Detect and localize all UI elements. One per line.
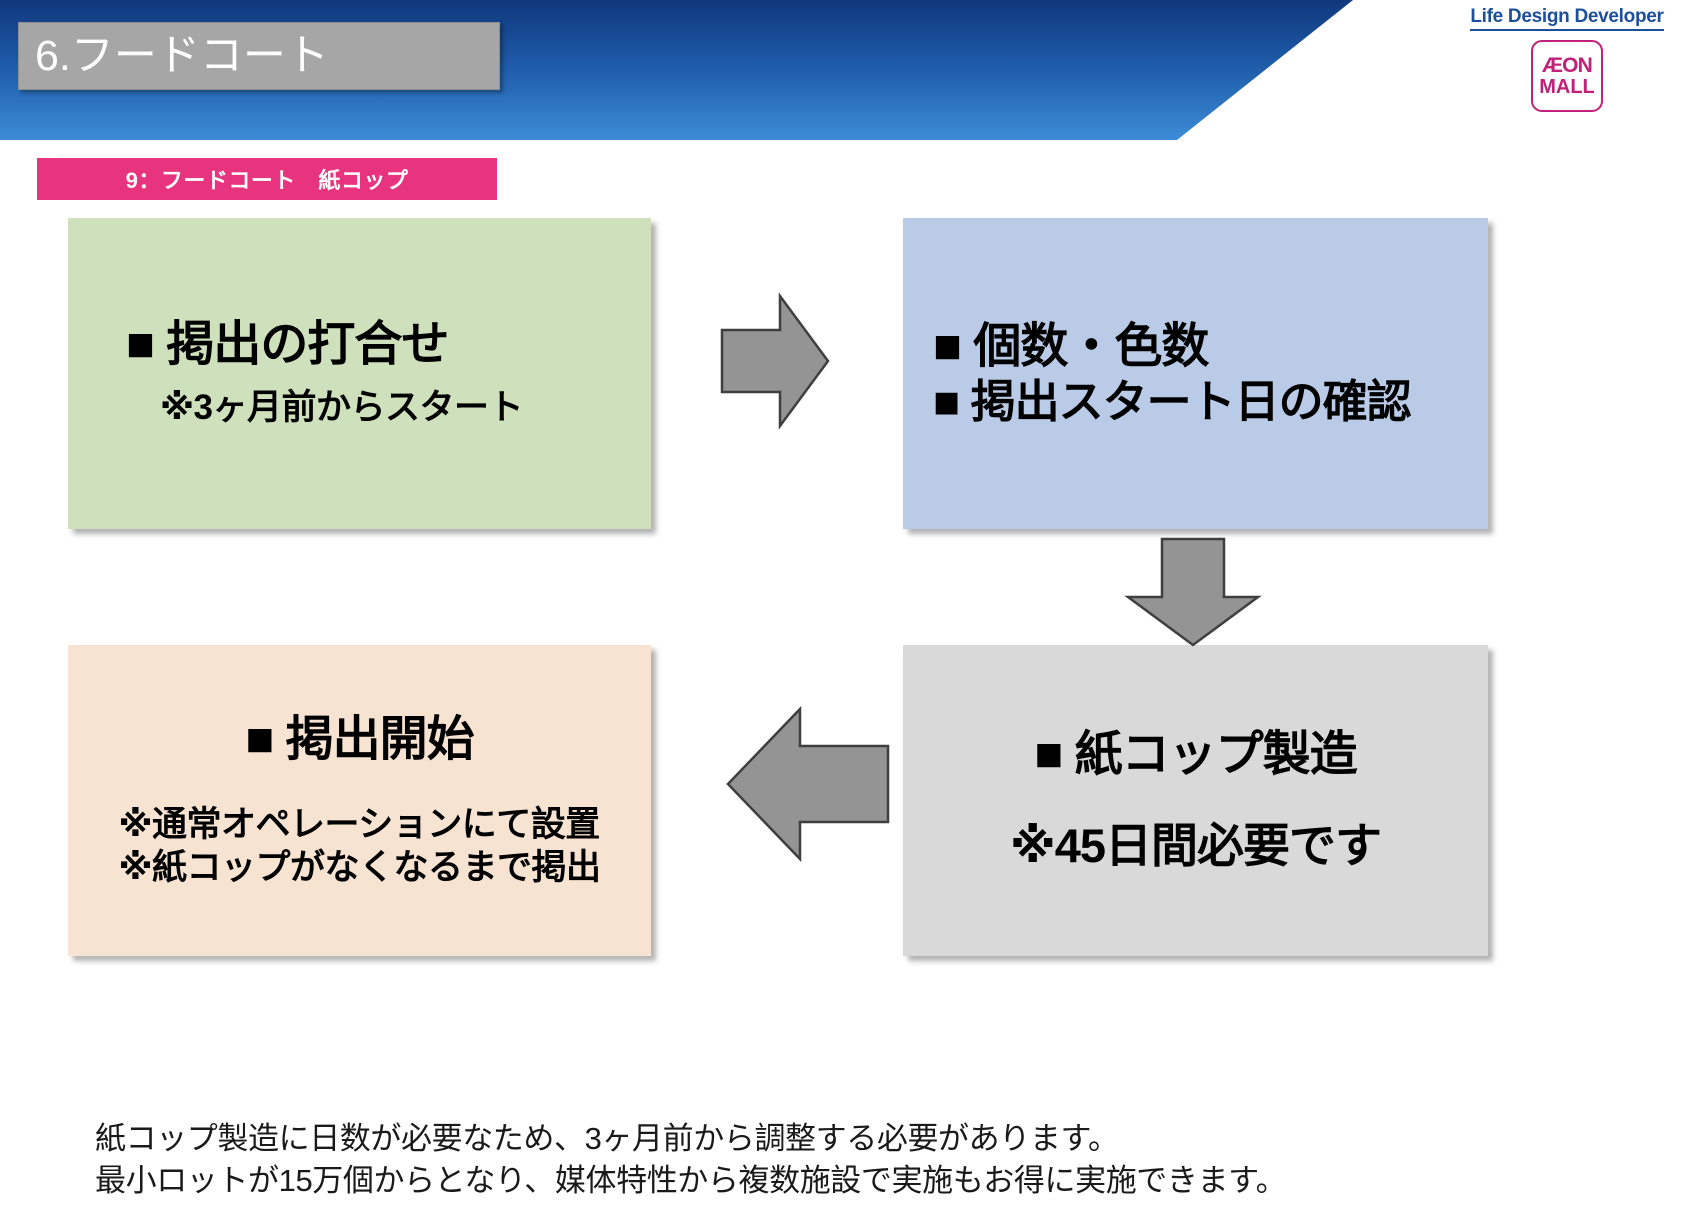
aeon-mall-logo-icon: ÆON MALL [1531,40,1603,112]
flow-step-1: ■ 掲出の打合せ ※3ヶ月前からスタート [68,218,651,529]
arrow-right-icon [722,296,828,426]
flow-step-2-heading-line1: ■ 個数・色数 [933,319,1208,376]
page-title: 6.フードコート [35,35,329,78]
slide-root: 6.フードコート Life Design Developer ÆON MALL … [0,0,1686,1212]
flow-step-3: ■ 紙コップ製造 ※45日間必要です [903,645,1488,956]
flow-step-1-note: ※3ヶ月前からスタート [160,387,523,430]
flow-step-4-note-1: ※通常オペレーションにて設置 [118,804,600,847]
logo-mall-text: MALL [1539,77,1595,97]
arrow-left-icon [728,709,888,859]
aeon-mall-logo: Life Design Developer ÆON MALL [1462,6,1672,112]
logo-tagline: Life Design Developer [1470,6,1663,31]
flow-step-2: ■ 個数・色数 ■ 掲出スタート日の確認 [903,218,1488,529]
flow-step-4-heading: ■ 掲出開始 [245,712,473,769]
section-badge-label: 9：フードコート 紙コップ [126,163,409,195]
flow-step-4-note-2: ※紙コップがなくなるまで掲出 [118,847,600,890]
page-title-box: 6.フードコート [18,22,500,90]
flow-step-3-note: ※45日間必要です [1010,817,1381,874]
logo-aeon-text: ÆON [1542,55,1592,76]
flow-step-4-notes: ※通常オペレーションにて設置 ※紙コップがなくなるまで掲出 [118,804,600,889]
footer-note-line-1: 紙コップ製造に日数が必要なため、3ヶ月前から調整する必要があります。 [95,1118,1395,1160]
flow-step-4: ■ 掲出開始 ※通常オペレーションにて設置 ※紙コップがなくなるまで掲出 [68,645,651,956]
footer-note: 紙コップ製造に日数が必要なため、3ヶ月前から調整する必要があります。 最小ロット… [95,1118,1395,1201]
section-badge: 9：フードコート 紙コップ [37,158,497,200]
flow-step-2-heading-line2: ■ 掲出スタート日の確認 [933,375,1411,428]
flow-step-1-heading: ■ 掲出の打合せ [126,317,448,374]
arrow-down-icon [1128,539,1258,645]
flow-step-3-heading: ■ 紙コップ製造 [1034,727,1356,784]
footer-note-line-2: 最小ロットが15万個からとなり、媒体特性から複数施設で実施もお得に実施できます。 [95,1160,1395,1202]
